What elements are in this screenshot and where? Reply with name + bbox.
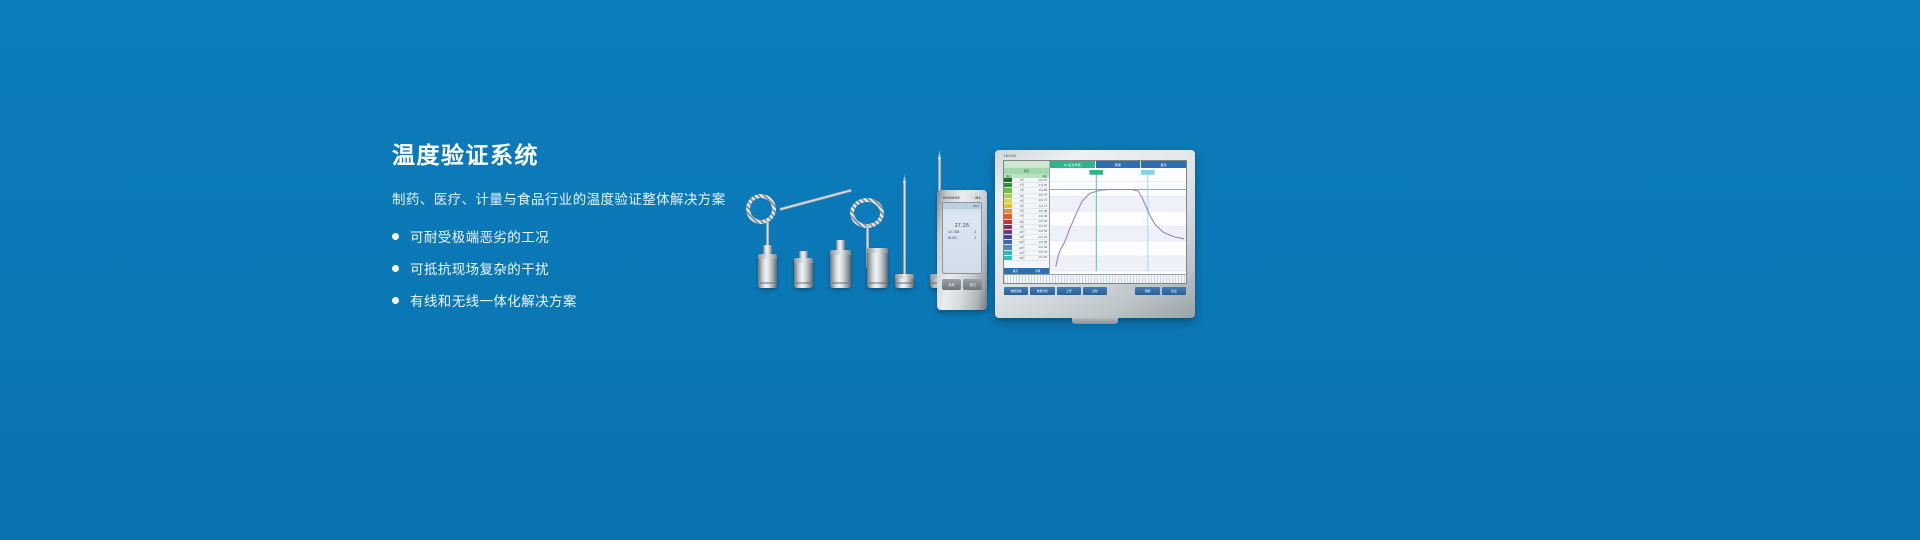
button-data-acquisition[interactable]: 数据采集 (1004, 287, 1028, 295)
channel-color-swatch (1004, 251, 1012, 255)
hero-banner: 温度验证系统 制药、医疗、计量与食品行业的温度验证整体解决方案 可耐受极端恶劣的… (0, 0, 1920, 540)
temperature-chart-svg (1050, 168, 1186, 275)
channel-value: -0.4, 55 (1032, 230, 1049, 233)
channel-name: 12号 (1012, 240, 1032, 244)
channel-name: 2号 (1012, 188, 1032, 192)
channel-name: 5号 (1012, 204, 1032, 208)
channel-value: -0.6, 98 (1032, 210, 1049, 213)
handheld-row-value: 2 (974, 230, 976, 234)
channel-table: 通道 通道 温度 0号-0.4, 971号-1.5, 922号-0.9, 853… (1004, 168, 1050, 274)
monitor-tabbar-spacer (1004, 161, 1050, 168)
channel-color-swatch (1004, 204, 1012, 208)
handheld-status: REC (943, 203, 981, 209)
handheld-keypad: 菜单 返回 (942, 279, 982, 290)
channel-value: -0.8, 96 (1032, 215, 1049, 218)
channel-value: -0.4, 23 (1032, 236, 1049, 239)
data-logger-small (794, 258, 813, 288)
channel-name: 13号 (1012, 246, 1032, 250)
needle-probe (903, 182, 906, 276)
channel-name: 0号 (1012, 178, 1032, 182)
channel-table-rows: 0号-0.4, 971号-1.5, 922号-0.9, 853号-0.6, 77… (1004, 178, 1049, 261)
channel-name: 10号 (1012, 230, 1032, 234)
channel-value: -0.4, 71 (1032, 199, 1049, 202)
logger-neck (836, 240, 845, 250)
button-bar-spacer (1109, 287, 1133, 295)
channel-value: -0.9, 85 (1032, 189, 1049, 192)
channel-color-swatch (1004, 235, 1012, 239)
handheld-key-back[interactable]: 返回 (963, 279, 982, 290)
channel-name: 8号 (1012, 220, 1032, 224)
channel-value: -0.4, 57 (1032, 225, 1049, 228)
feature-label: 可耐受极端恶劣的工况 (410, 226, 549, 246)
handheld-brand: INONIKE (943, 196, 960, 200)
handheld-row-label: 8LOG (948, 236, 957, 240)
table-row[interactable]: 15号-0.4, 87 (1004, 256, 1049, 261)
button-data-analysis[interactable]: 数据分析 (1030, 287, 1054, 295)
needle-probe-base (895, 274, 914, 288)
channel-value: -0.4, 69 (1032, 246, 1049, 249)
channel-color-swatch (1004, 256, 1012, 260)
channel-color-swatch (1004, 194, 1012, 198)
bullet-dot-icon (392, 297, 399, 304)
channel-name: 6号 (1012, 209, 1032, 213)
handheld-model: M1 (975, 196, 981, 200)
channel-value: -0.4, 65 (1032, 241, 1049, 244)
channel-value: -0.3, 77 (1032, 205, 1049, 208)
channel-value: -0.5, 91 (1032, 220, 1049, 223)
channel-name: 7号 (1012, 214, 1032, 218)
channel-value: -0.4, 97 (1032, 179, 1049, 182)
feature-label: 可抵抗现场复杂的干扰 (410, 258, 549, 278)
channel-color-swatch (1004, 178, 1012, 182)
channel-color-swatch (1004, 225, 1012, 229)
monitor-button-bar: 数据采集 数据分析 上传 点检 帮助 退出 (1003, 287, 1187, 295)
handheld-row: 8LOG 1 (943, 235, 981, 241)
button-upload[interactable]: 上传 (1057, 287, 1081, 295)
handheld-screen: REC 27.25 10.73M 2 8LOG 1 (942, 202, 982, 274)
tab-setup[interactable]: 中-设定参数 (1050, 161, 1095, 168)
channel-color-swatch (1004, 220, 1012, 224)
data-logger-medium (867, 248, 888, 288)
product-photo-group: INONIKE M1 REC 27.25 10.73M 2 8LOG 1 菜单 … (720, 120, 1220, 320)
channel-name: 9号 (1012, 225, 1032, 229)
bullet-dot-icon (392, 265, 399, 272)
coil-probe-icon (746, 194, 776, 224)
channel-name: 4号 (1012, 199, 1032, 203)
data-logger-small (758, 254, 777, 288)
monitor-stand (1072, 318, 1118, 324)
button-exit[interactable]: 退出 (1162, 287, 1186, 295)
channel-name: 15号 (1012, 256, 1032, 260)
handheld-reader[interactable]: INONIKE M1 REC 27.25 10.73M 2 8LOG 1 菜单 … (937, 190, 987, 310)
tab-help[interactable]: 帮助 (1095, 161, 1141, 168)
tab-report[interactable]: 报表 (1140, 161, 1186, 168)
handheld-row-value: 1 (974, 236, 976, 240)
button-help[interactable]: 帮助 (1135, 287, 1159, 295)
channel-color-swatch (1004, 240, 1012, 244)
channel-value: -1.5, 92 (1032, 184, 1049, 187)
channel-color-swatch (1004, 230, 1012, 234)
monitor-brand: INON (1004, 153, 1016, 158)
data-logger-medium (830, 250, 851, 288)
channel-color-swatch (1004, 214, 1012, 218)
channel-color-swatch (1004, 245, 1012, 249)
logger-neck (799, 251, 808, 258)
monitor-screen: 中-设定参数 帮助 报表 通道 通道 温度 0号-0.4, 971号-1.5, … (1003, 160, 1187, 284)
probe-wire (780, 189, 852, 211)
chart-x-axis (1004, 274, 1186, 283)
logger-neck (763, 245, 772, 254)
channel-value: -0.4, 73 (1032, 251, 1049, 254)
channel-name: 14号 (1012, 251, 1032, 255)
handheld-key-menu[interactable]: 菜单 (942, 279, 961, 290)
channel-color-swatch (1004, 199, 1012, 203)
channel-value: -0.4, 87 (1032, 256, 1049, 259)
monitor-body: 通道 通道 温度 0号-0.4, 971号-1.5, 922号-0.9, 853… (1004, 168, 1186, 274)
channel-name: 11号 (1012, 235, 1032, 239)
channel-value: -0.6, 77 (1032, 194, 1049, 197)
channel-color-swatch (1004, 188, 1012, 192)
feature-label: 有线和无线一体化解决方案 (410, 290, 577, 310)
handheld-row-label: 10.73M (948, 230, 959, 234)
bullet-dot-icon (392, 233, 399, 240)
channel-color-swatch (1004, 209, 1012, 213)
channel-name: 1号 (1012, 183, 1032, 187)
validation-monitor: INON 中-设定参数 帮助 报表 通道 通道 温度 0号-0. (995, 150, 1195, 318)
channel-name: 3号 (1012, 194, 1032, 198)
temperature-chart (1050, 168, 1186, 274)
button-check[interactable]: 点检 (1083, 287, 1107, 295)
monitor-tabbar: 中-设定参数 帮助 报表 (1004, 161, 1186, 168)
channel-color-swatch (1004, 183, 1012, 187)
